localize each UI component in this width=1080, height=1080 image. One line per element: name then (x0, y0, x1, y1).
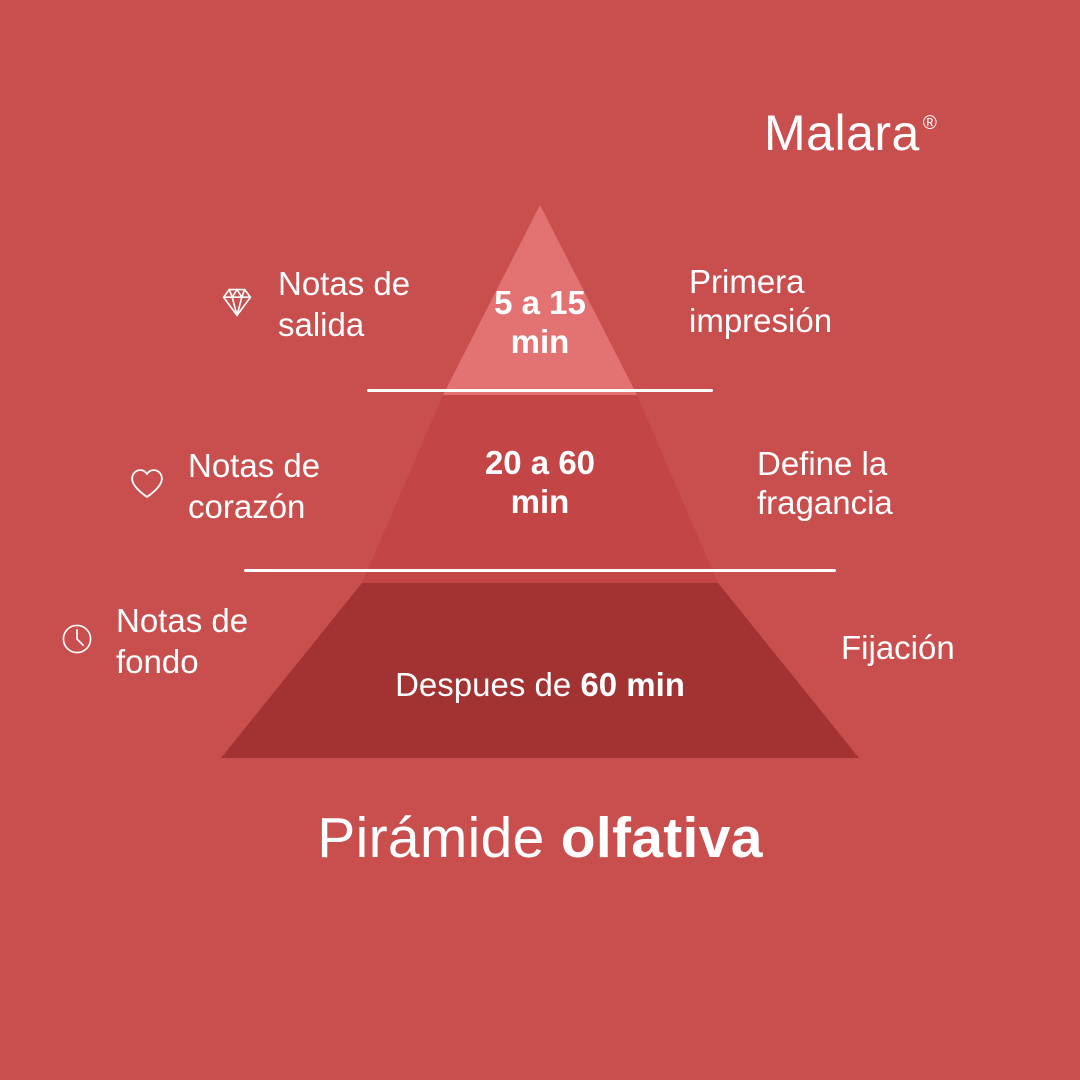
page-title-bold: olfativa (561, 806, 763, 870)
tier-bottom-duration-prefix: Despues de (395, 666, 580, 703)
tier-divider-top (367, 389, 713, 392)
tier-top-left-label: Notas de salida (278, 263, 410, 346)
tier-middle-left-label: Notas de corazón (188, 445, 320, 528)
tier-middle-right-label: Define la fragancia (757, 445, 1057, 522)
tier-top-duration: 5 a 15 min (440, 284, 640, 361)
page-title-light: Pirámide (317, 806, 560, 870)
brand-name: Malara (764, 108, 920, 158)
page-title: Pirámide olfativa (0, 806, 1080, 872)
tier-top-right-label: Primera impresión (689, 263, 989, 340)
diamond-icon (214, 279, 260, 330)
tier-middle-left-label-group: Notas de corazón (124, 445, 320, 528)
registered-trademark-icon: ® (923, 114, 937, 133)
tier-bottom-duration-value: 60 min (580, 666, 685, 703)
tier-bottom-right-label: Fijación (841, 629, 1080, 668)
olfactory-pyramid-graphic (0, 0, 1080, 1080)
tier-top-left-label-group: Notas de salida (214, 263, 410, 346)
clock-icon (56, 618, 98, 665)
heart-icon (124, 461, 170, 512)
tier-bottom-left-label-group: Notas de fondo (56, 600, 248, 683)
tier-bottom-duration: Despues de 60 min (330, 627, 750, 704)
infographic-canvas: Malara ® Notas de salida 5 a 15 min (0, 0, 1080, 1080)
tier-bottom-left-label: Notas de fondo (116, 600, 248, 683)
brand-logo: Malara ® (764, 108, 937, 158)
tier-divider-bottom (244, 569, 836, 572)
tier-middle-duration: 20 a 60 min (440, 444, 640, 521)
